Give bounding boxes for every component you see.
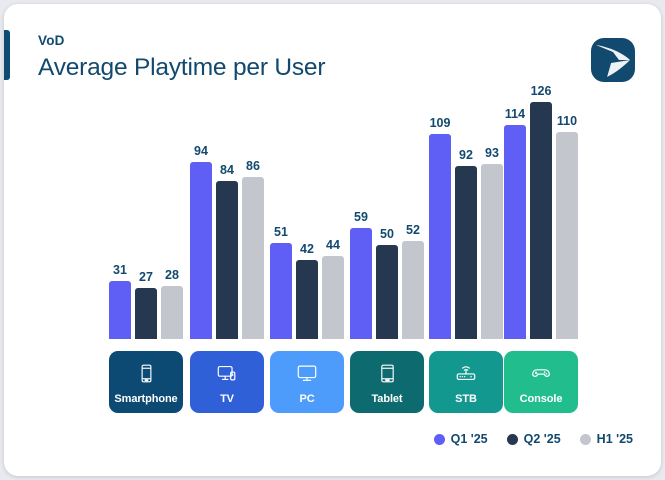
bar — [504, 125, 526, 339]
legend-item[interactable]: Q2 '25 — [507, 432, 561, 446]
category-chip-label: PC — [270, 393, 344, 405]
category-chip-label: Console — [504, 393, 578, 405]
bar — [556, 132, 578, 339]
gamepad-icon — [504, 360, 578, 386]
bar-value-label: 59 — [341, 210, 381, 224]
category-chip-label: STB — [429, 393, 503, 405]
category-chip-pc[interactable]: PC — [270, 351, 344, 413]
bar-group: 1099293 — [429, 4, 503, 339]
bar — [216, 181, 238, 339]
bar — [242, 177, 264, 339]
category-chip-label: Tablet — [350, 393, 424, 405]
bar — [455, 166, 477, 339]
legend-item[interactable]: Q1 '25 — [434, 432, 488, 446]
legend-color-dot — [507, 434, 518, 445]
bar-value-label: 86 — [233, 159, 273, 173]
bar-group: 595052 — [350, 4, 424, 339]
bar-value-label: 109 — [420, 116, 460, 130]
bar — [322, 256, 344, 339]
bar — [135, 288, 157, 339]
bar-group: 948486 — [190, 4, 264, 339]
bar — [530, 102, 552, 339]
category-chip-tv[interactable]: TV — [190, 351, 264, 413]
monitor-icon — [270, 360, 344, 386]
category-chip-tablet[interactable]: Tablet — [350, 351, 424, 413]
legend-label: Q2 '25 — [524, 432, 561, 446]
bar-value-label: 110 — [547, 114, 587, 128]
bar — [481, 164, 503, 339]
bar-value-label: 51 — [261, 225, 301, 239]
bar-value-label: 28 — [152, 268, 192, 282]
bar — [190, 162, 212, 339]
category-chip-smartphone[interactable]: Smartphone — [109, 351, 183, 413]
bar — [109, 281, 131, 339]
bar — [429, 134, 451, 339]
bar — [296, 260, 318, 339]
bar-value-label: 114 — [495, 107, 535, 121]
bar-value-label: 52 — [393, 223, 433, 237]
category-chip-stb[interactable]: STB — [429, 351, 503, 413]
bar — [376, 245, 398, 339]
legend-item[interactable]: H1 '25 — [580, 432, 633, 446]
router-icon — [429, 360, 503, 386]
bar — [161, 286, 183, 339]
smartphone-icon — [109, 360, 183, 386]
bar-group: 514244 — [270, 4, 344, 339]
bar-value-label: 94 — [181, 144, 221, 158]
bar-value-label: 126 — [521, 84, 561, 98]
category-chip-label: TV — [190, 393, 264, 405]
bar-value-label: 44 — [313, 238, 353, 252]
chart-legend: Q1 '25Q2 '25H1 '25 — [434, 432, 633, 446]
chart-card: VoD Average Playtime per User 3127289484… — [4, 4, 661, 476]
legend-label: H1 '25 — [597, 432, 633, 446]
bar — [350, 228, 372, 339]
bar — [270, 243, 292, 339]
bar-group: 312728 — [109, 4, 183, 339]
legend-label: Q1 '25 — [451, 432, 488, 446]
bar-group: 114126110 — [504, 4, 578, 339]
category-chip-label: Smartphone — [109, 393, 183, 405]
category-chip-console[interactable]: Console — [504, 351, 578, 413]
legend-color-dot — [434, 434, 445, 445]
tv-icon — [190, 360, 264, 386]
legend-color-dot — [580, 434, 591, 445]
tablet-icon — [350, 360, 424, 386]
bar — [402, 241, 424, 339]
